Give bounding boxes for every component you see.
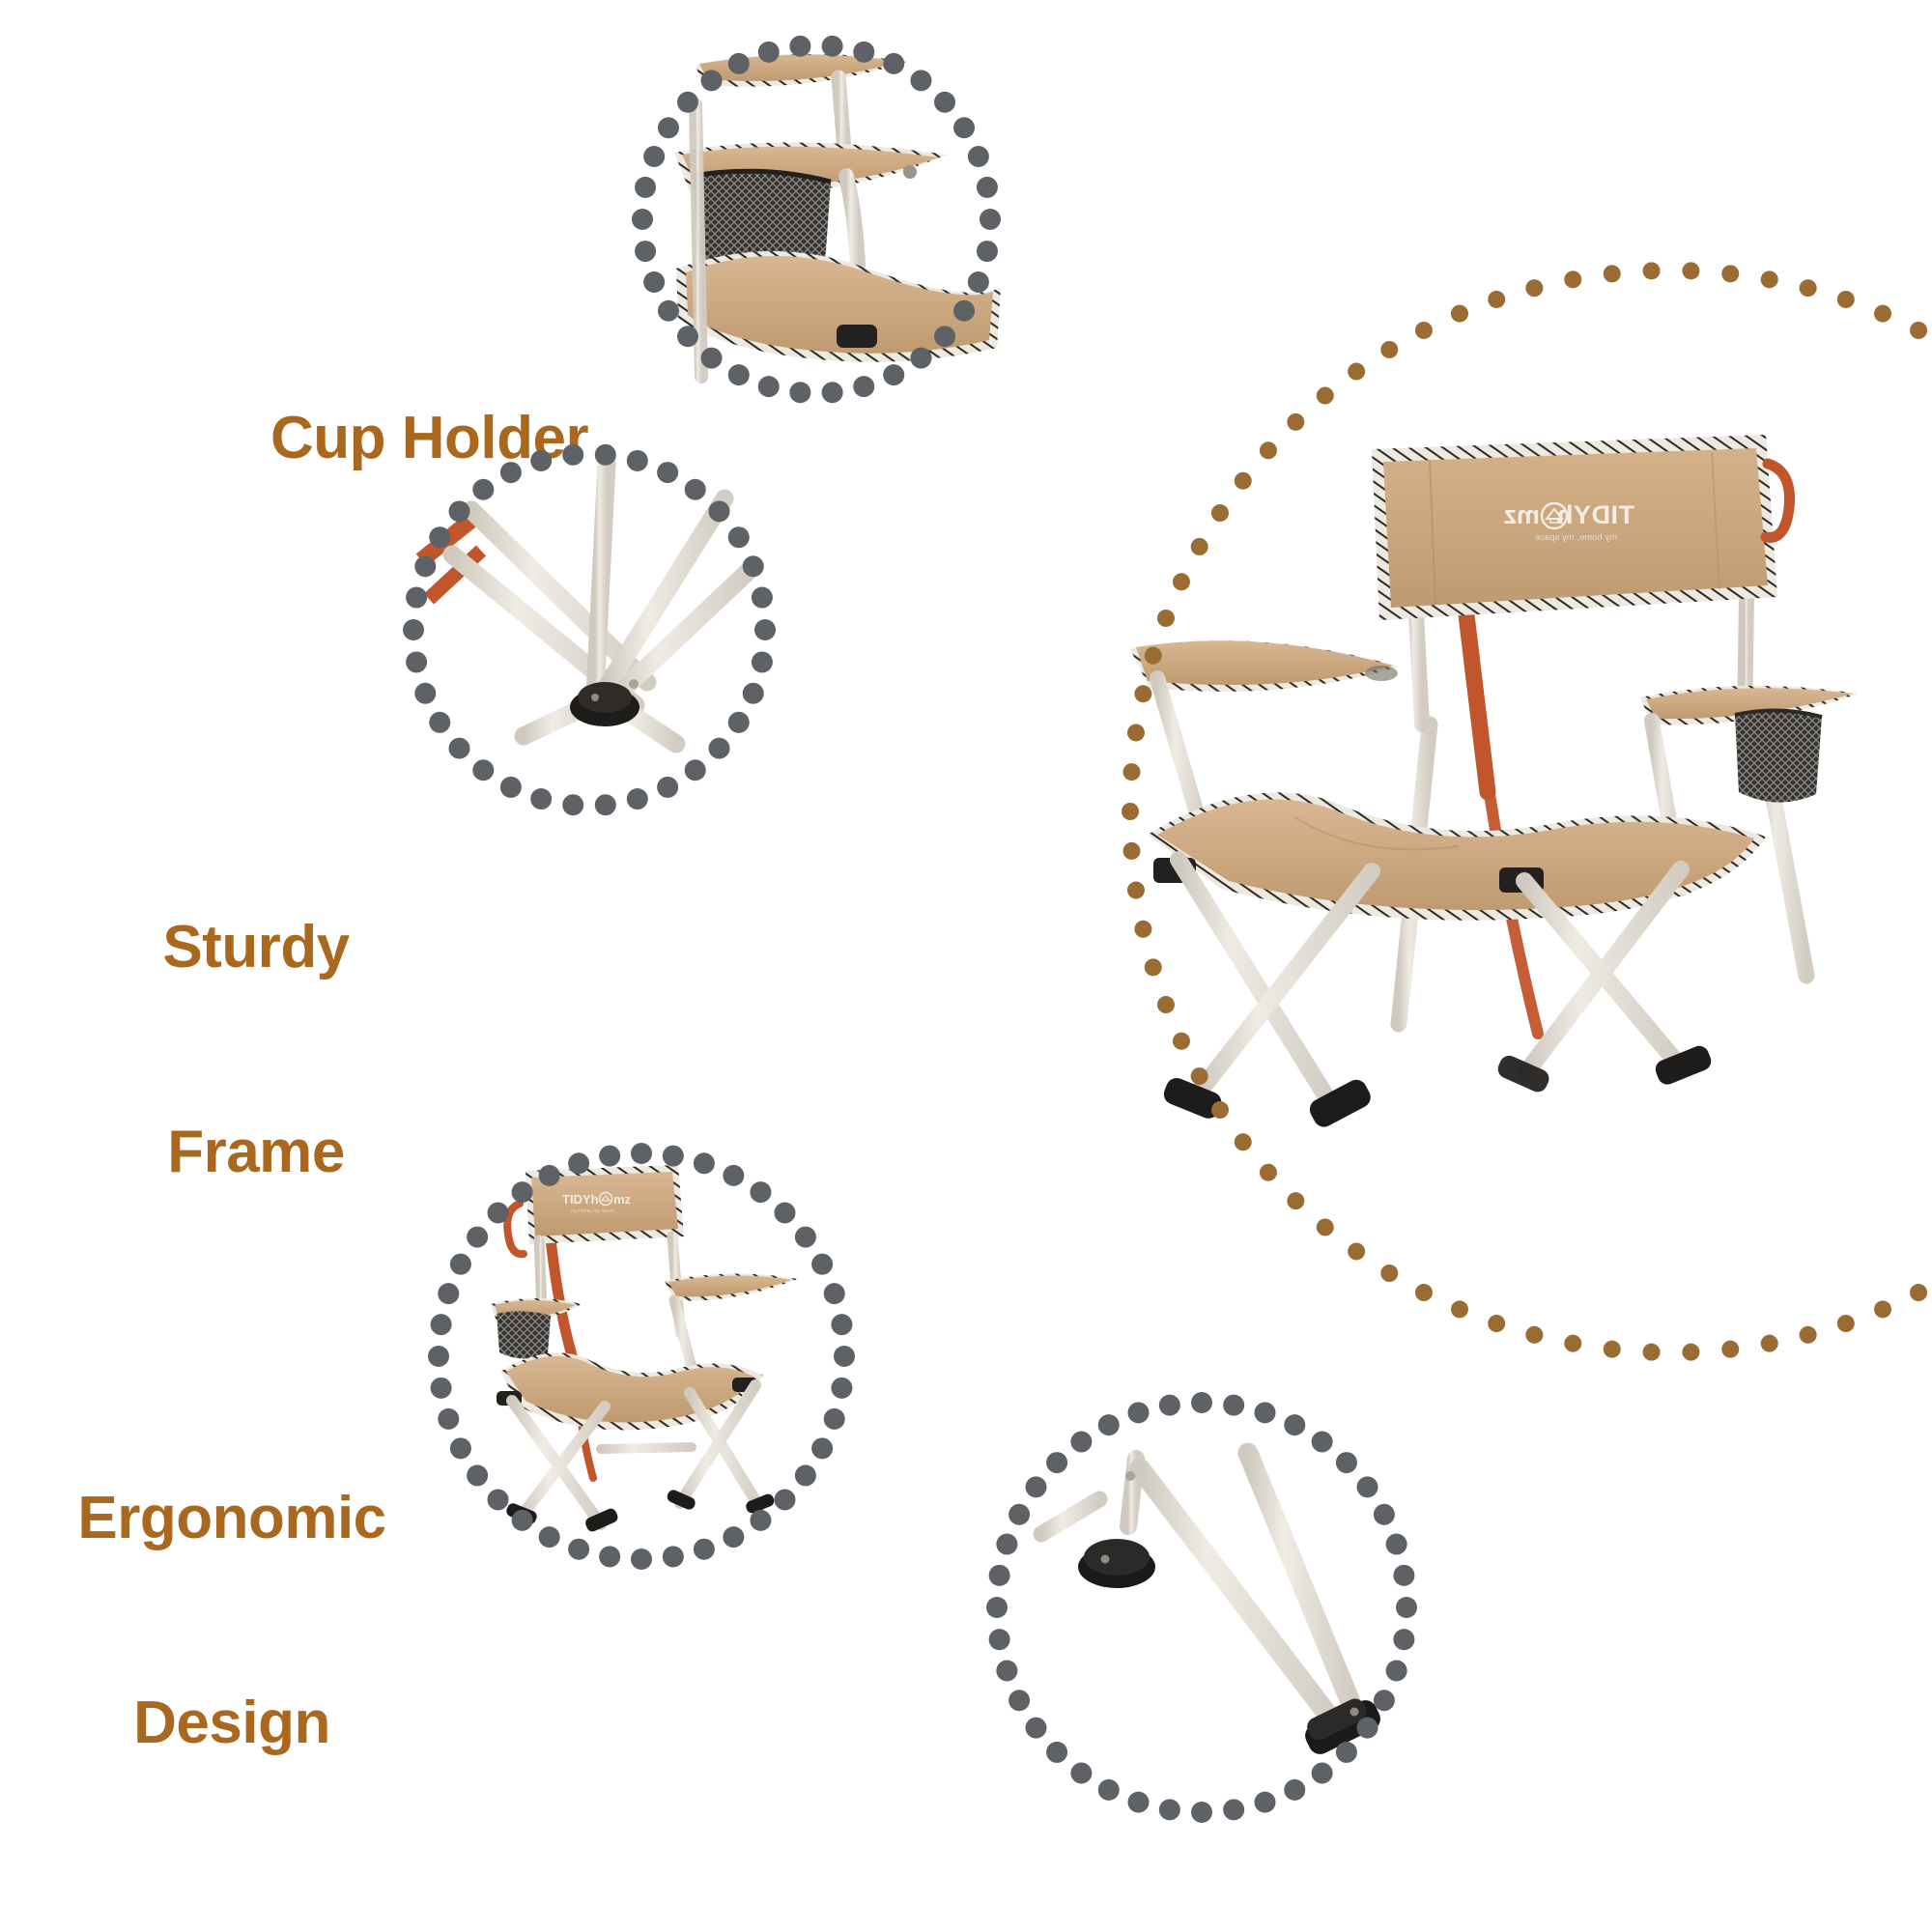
cup-holder-ring-dots — [628, 31, 1005, 408]
feature-label-ergonomic-design-line2: Design — [68, 1690, 396, 1758]
callout-ring-sturdy-frame — [400, 440, 779, 819]
callout-ring-hero — [1101, 241, 1932, 1381]
callout-ring-cup-holder — [628, 31, 1005, 408]
callout-ring-ergonomic-design — [425, 1140, 858, 1573]
infographic-canvas: Cup Holder Sturdy Frame Ergonomic Design… — [0, 0, 1932, 1932]
feature-label-sturdy-frame-line1: Sturdy — [135, 914, 377, 982]
stable-feet-ring-dots — [983, 1389, 1420, 1826]
frame-ring-dots — [400, 440, 779, 819]
feature-label-ergonomic-design: Ergonomic Design — [68, 1349, 396, 1894]
callout-ring-stable-feet — [983, 1389, 1420, 1826]
feature-label-ergonomic-design-line1: Ergonomic — [68, 1485, 396, 1553]
hero-ring-dots — [1101, 241, 1932, 1381]
feature-label-sturdy-frame-line2: Frame — [135, 1119, 377, 1187]
ergonomic-ring-dots — [425, 1140, 858, 1573]
feature-label-stable-feet: Stable Feet — [638, 1799, 968, 1932]
feature-label-sturdy-frame: Sturdy Frame — [135, 778, 377, 1323]
